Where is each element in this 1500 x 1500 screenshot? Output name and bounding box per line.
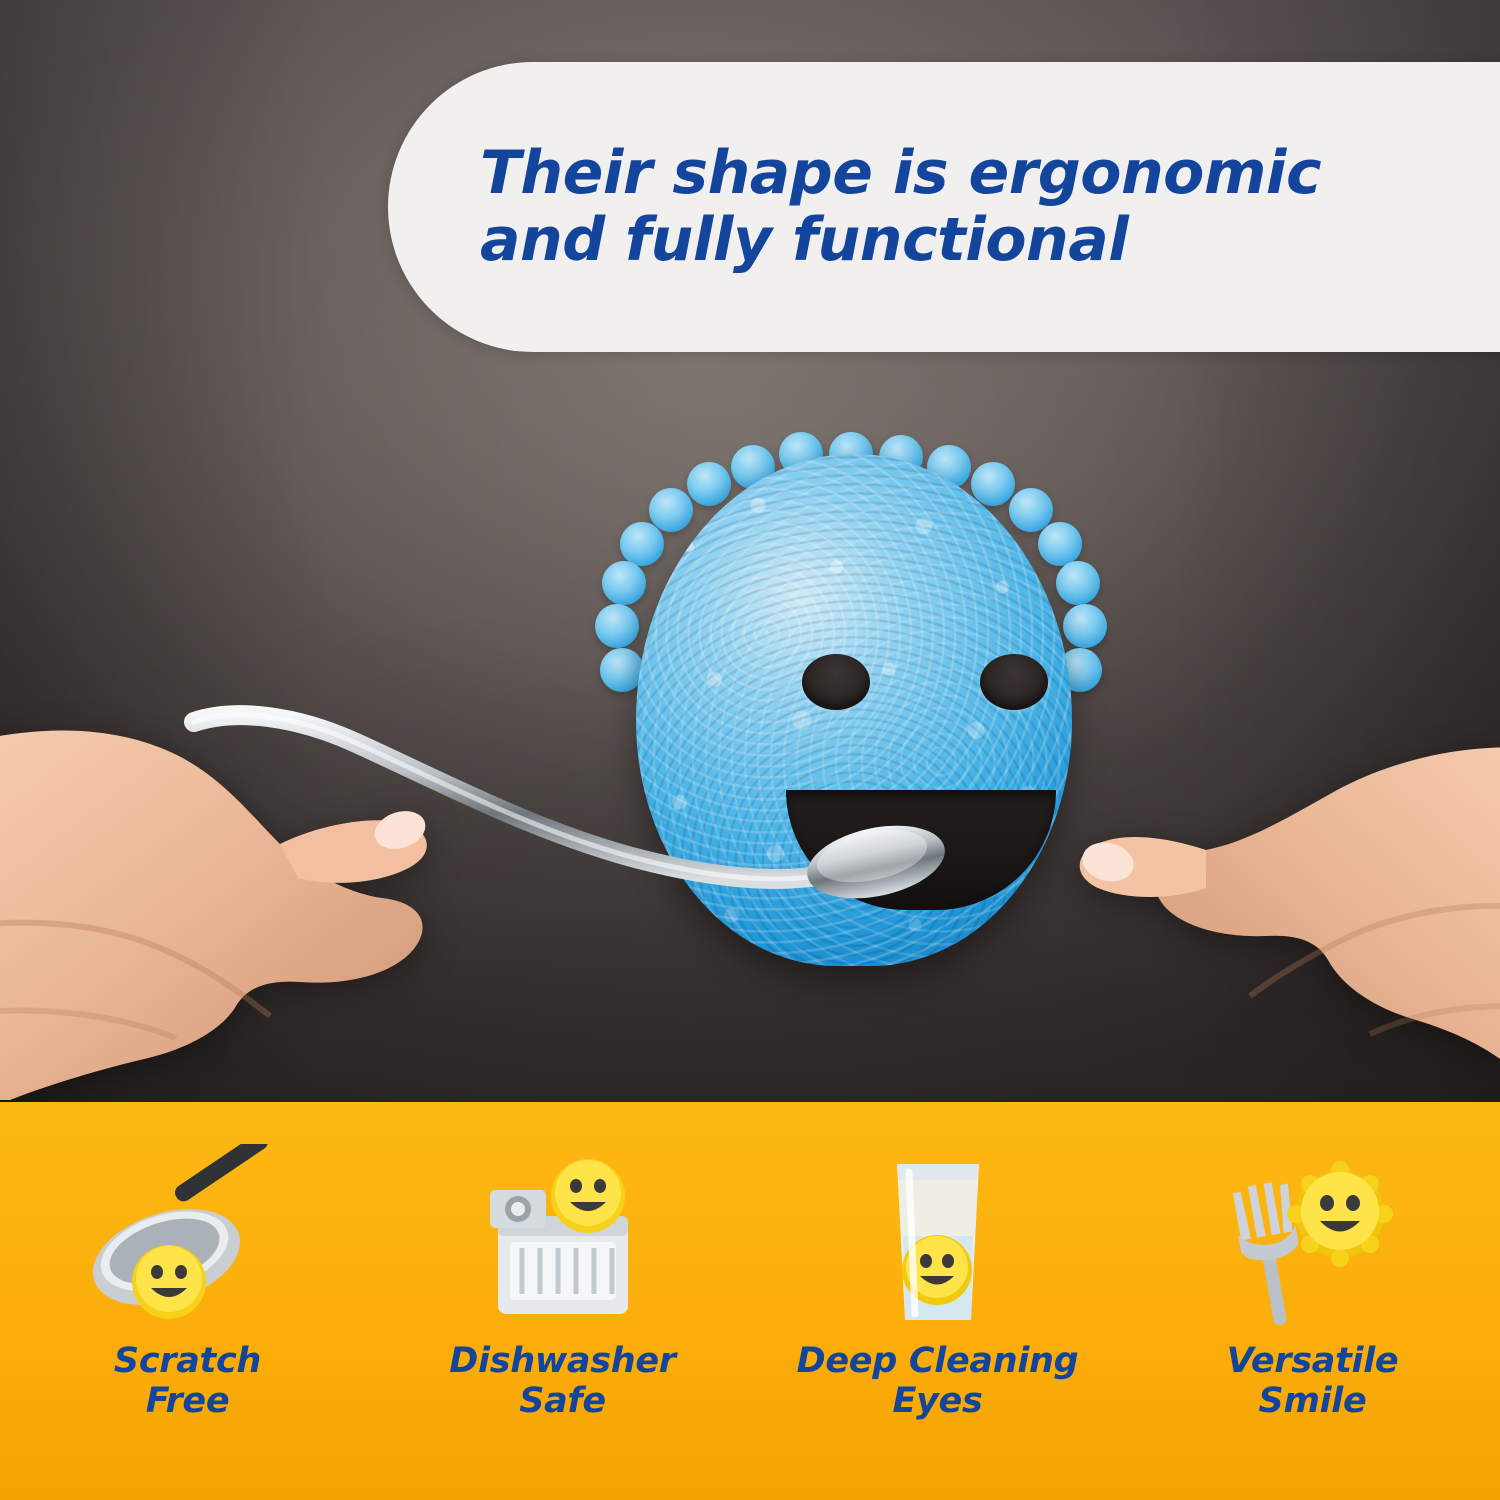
right-hand xyxy=(950,690,1500,1102)
drinking-glass-sponge-icon xyxy=(823,1144,1053,1334)
feature-item-deep-cleaning-eyes: Deep Cleaning Eyes xyxy=(750,1102,1125,1500)
feature-item-scratch-free: Scratch Free xyxy=(0,1102,375,1500)
feature-label: Dishwasher Safe xyxy=(449,1342,676,1422)
dishwasher-sponge-icon xyxy=(448,1144,678,1334)
feature-item-dishwasher-safe: Dishwasher Safe xyxy=(375,1102,750,1500)
sponge-eye-left xyxy=(802,654,870,710)
headline-text: Their shape is ergonomic and fully funct… xyxy=(480,140,1321,274)
frying-pan-sponge-icon xyxy=(73,1144,303,1334)
feature-label: Versatile Smile xyxy=(1227,1342,1399,1422)
product-infographic: Their shape is ergonomic and fully funct… xyxy=(0,0,1500,1500)
feature-label: Deep Cleaning Eyes xyxy=(797,1342,1079,1422)
headline-callout: Their shape is ergonomic and fully funct… xyxy=(388,62,1500,352)
product-photo: Their shape is ergonomic and fully funct… xyxy=(0,0,1500,1102)
feature-bar: Scratch Free xyxy=(0,1102,1500,1500)
feature-label: Scratch Free xyxy=(114,1342,261,1422)
feature-item-versatile-smile: Versatile Smile xyxy=(1125,1102,1500,1500)
fork-sponge-icon xyxy=(1198,1144,1428,1334)
left-hand xyxy=(0,630,620,1102)
